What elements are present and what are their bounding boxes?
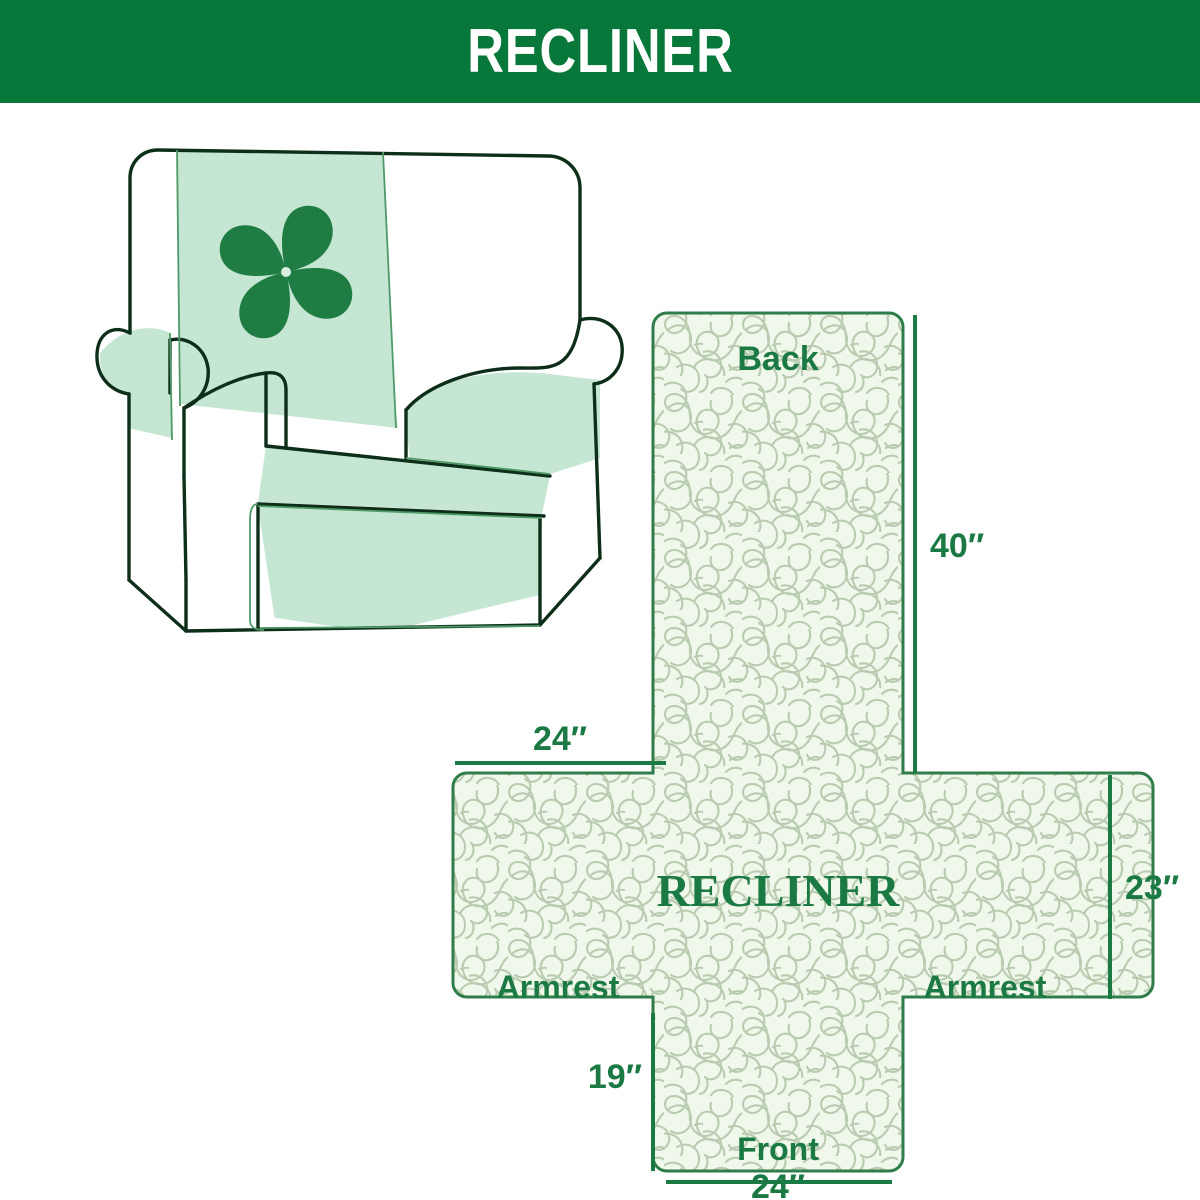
dimension-label-front-width: 24″ — [751, 1168, 805, 1198]
dimension-label-front-height: 19″ — [588, 1058, 642, 1096]
cover-layout-diagram: Back RECLINER Armrest Armrest Front 40″ … — [430, 298, 1200, 1198]
dimension-label-armrest-height: 23″ — [1125, 869, 1179, 907]
dimension-label-armrest-left-width: 24″ — [533, 720, 587, 758]
cover-center-label: RECLINER — [657, 865, 901, 916]
diagram-stage: Back RECLINER Armrest Armrest Front 40″ … — [0, 103, 1200, 1200]
dimension-armrest-left-width: 24″ — [455, 720, 666, 763]
dimension-back-height: 40″ — [915, 315, 984, 773]
panel-label-armrest-right: Armrest — [924, 969, 1047, 1005]
panel-label-front: Front — [737, 1131, 819, 1167]
header-banner: RECLINER — [0, 0, 1200, 103]
panel-label-armrest-left: Armrest — [497, 969, 620, 1005]
dimension-front-height: 19″ — [588, 1013, 653, 1171]
page-title: RECLINER — [467, 21, 733, 83]
panel-label-back: Back — [737, 340, 818, 378]
dimension-label-back-height: 40″ — [930, 527, 984, 565]
